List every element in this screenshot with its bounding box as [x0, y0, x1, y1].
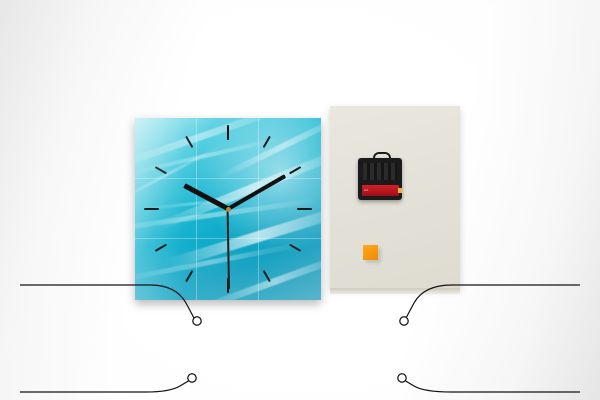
callout-connectors — [0, 190, 600, 400]
callout-node — [398, 374, 406, 382]
clock-center-pin — [226, 207, 231, 212]
mechanism-hanger-hook — [373, 152, 391, 162]
callout-node — [400, 317, 408, 325]
callout-node — [188, 374, 196, 382]
infographic-canvas: AA — [0, 0, 600, 400]
callout-node — [193, 317, 201, 325]
mechanism-body — [363, 163, 397, 180]
